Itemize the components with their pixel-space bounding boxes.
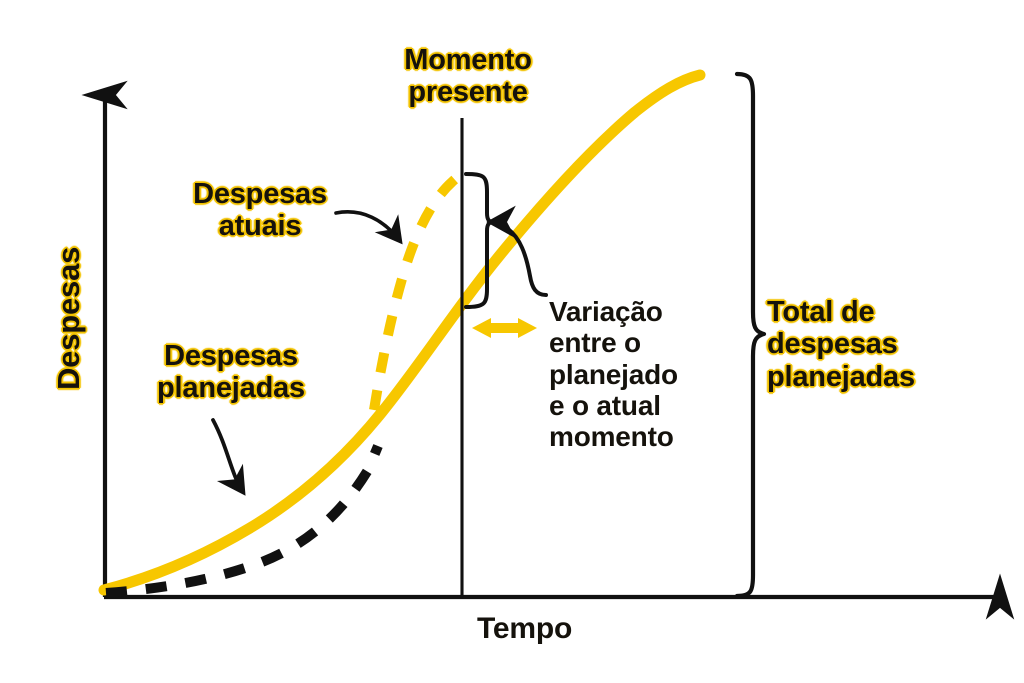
- variance-label: Variação entre o planejado e o atual mom…: [549, 296, 678, 453]
- planned-expenses-label: Despesas planejadas: [139, 340, 323, 405]
- y-axis-label: Despesas: [52, 247, 87, 390]
- variance-double-arrow: [472, 318, 537, 338]
- actual-expenses-label: Despesas atuais: [176, 178, 344, 243]
- total-planned-label: Total de despesas planejadas: [767, 296, 915, 393]
- actual-expenses-callout-arrow: [336, 212, 400, 241]
- series-atuais-line-upper: [374, 172, 468, 410]
- chart-figure: Despesas Tempo Momento presente Despesas…: [0, 0, 1024, 683]
- x-axis-label: Tempo: [477, 612, 572, 646]
- total-brace: [737, 74, 764, 596]
- planned-expenses-callout-arrow: [213, 420, 243, 492]
- present-moment-label: Momento presente: [388, 44, 548, 109]
